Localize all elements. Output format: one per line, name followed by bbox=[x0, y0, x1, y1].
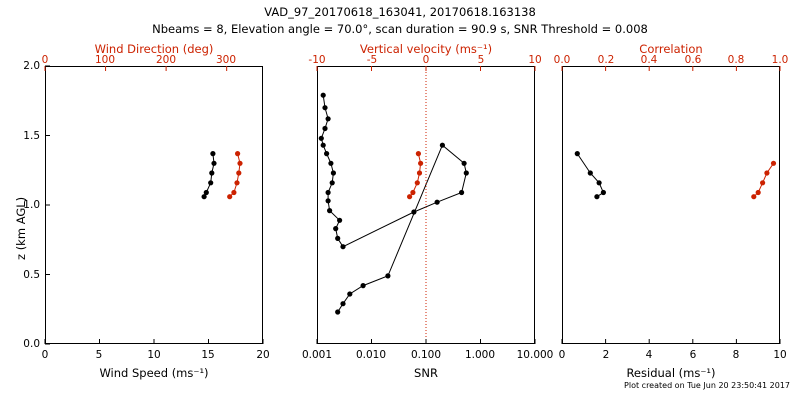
figure-root: VAD_97_20170618_163041, 20170618.163138 … bbox=[0, 0, 800, 400]
plot-data-layer bbox=[0, 0, 800, 400]
